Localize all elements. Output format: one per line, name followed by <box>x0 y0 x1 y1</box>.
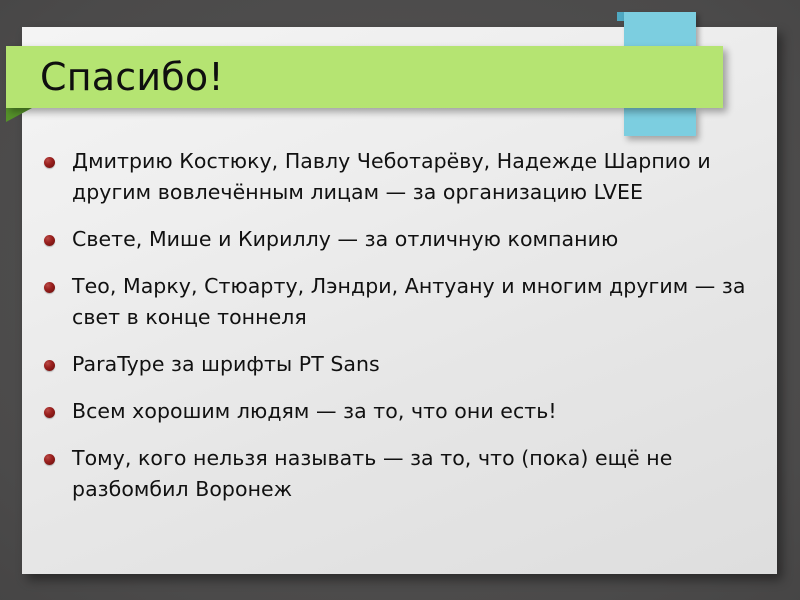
bullet-dot-icon <box>44 235 55 246</box>
decorative-ribbon-blue-bottom <box>624 108 696 136</box>
list-item-text: Свете, Мише и Кириллу — за отличную комп… <box>72 224 618 255</box>
list-item: Свете, Мише и Кириллу — за отличную комп… <box>44 224 754 255</box>
bullet-dot-icon <box>44 282 55 293</box>
title-banner-fold <box>6 108 32 122</box>
list-item-text: ParaType за шрифты PT Sans <box>72 349 380 380</box>
list-item: Всем хорошим людям — за то, что они есть… <box>44 396 754 427</box>
title-banner: Спасибо! <box>6 46 723 108</box>
slide-title: Спасибо! <box>6 58 224 96</box>
bullet-list: Дмитрию Костюку, Павлу Чеботарёву, Надеж… <box>44 146 754 521</box>
list-item-text: Дмитрию Костюку, Павлу Чеботарёву, Надеж… <box>72 146 754 208</box>
bullet-dot-icon <box>44 360 55 371</box>
list-item: Тому, кого нельзя называть — за то, что … <box>44 443 754 505</box>
bullet-dot-icon <box>44 407 55 418</box>
list-item: Тео, Марку, Стюарту, Лэндри, Антуану и м… <box>44 271 754 333</box>
list-item: Дмитрию Костюку, Павлу Чеботарёву, Надеж… <box>44 146 754 208</box>
bullet-dot-icon <box>44 157 55 168</box>
list-item-text: Тому, кого нельзя называть — за то, что … <box>72 443 754 505</box>
list-item: ParaType за шрифты PT Sans <box>44 349 754 380</box>
slide-root: Спасибо! Дмитрию Костюку, Павлу Чеботарё… <box>0 0 800 600</box>
bullet-dot-icon <box>44 454 55 465</box>
list-item-text: Всем хорошим людям — за то, что они есть… <box>72 396 557 427</box>
list-item-text: Тео, Марку, Стюарту, Лэндри, Антуану и м… <box>72 271 754 333</box>
